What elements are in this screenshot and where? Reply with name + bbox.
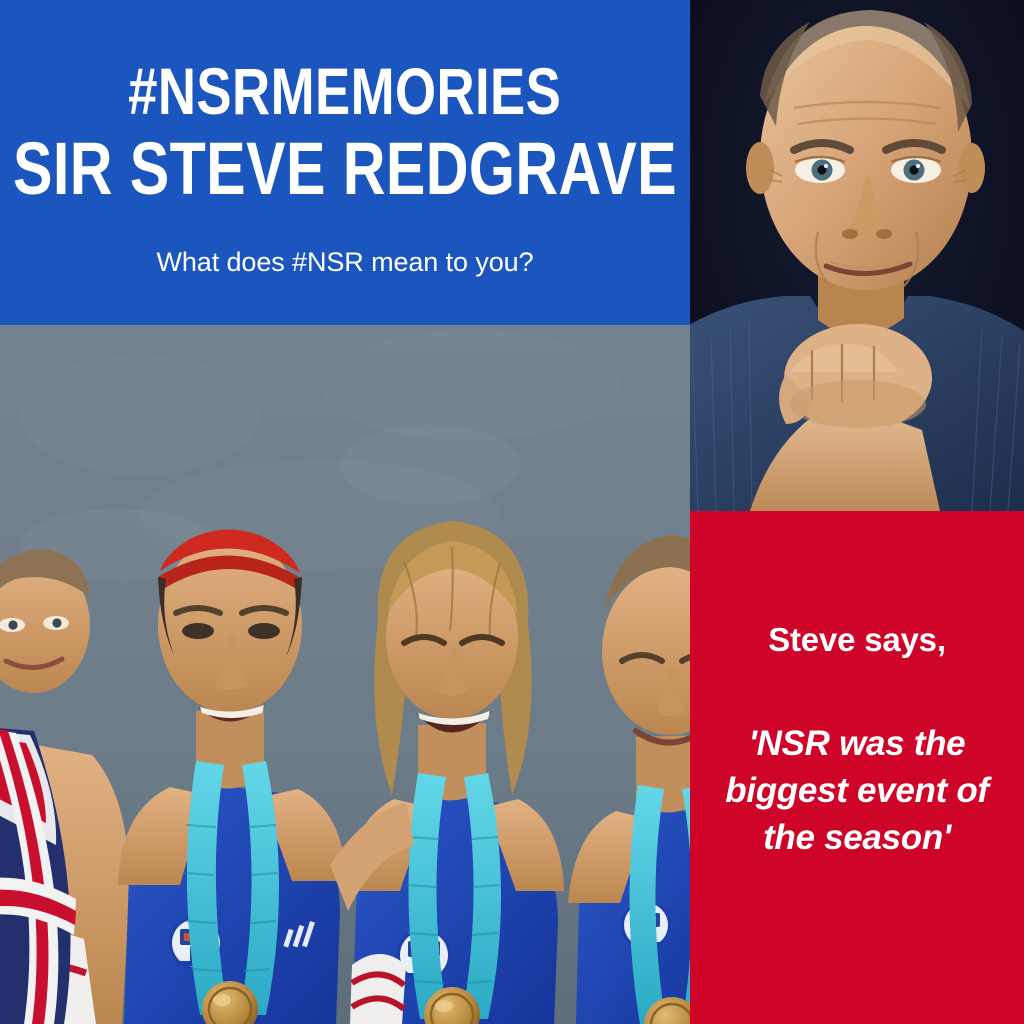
quote-body: 'NSR was the biggest event of the season…: [725, 721, 989, 862]
quote-line-3: the season': [725, 815, 989, 862]
hashtag-title: #NSRMEMORIES: [128, 58, 561, 125]
portrait-photo: [690, 0, 1024, 511]
poster-canvas: #NSRMEMORIES SIR STEVE REDGRAVE What doe…: [0, 0, 1024, 1024]
quote-attribution: Steve says,: [768, 621, 946, 659]
header-subtitle: What does #NSR mean to you?: [156, 247, 533, 278]
team-photo: [0, 325, 690, 1024]
portrait-illustration: [690, 0, 1024, 511]
quote-line-2: biggest event of: [725, 768, 989, 815]
name-title: SIR STEVE REDGRAVE: [13, 131, 677, 206]
header-panel: #NSRMEMORIES SIR STEVE REDGRAVE What doe…: [0, 0, 690, 325]
quote-line-1: 'NSR was the: [725, 721, 989, 768]
quote-panel: Steve says, 'NSR was the biggest event o…: [690, 511, 1024, 1024]
team-photo-illustration: [0, 325, 690, 1024]
